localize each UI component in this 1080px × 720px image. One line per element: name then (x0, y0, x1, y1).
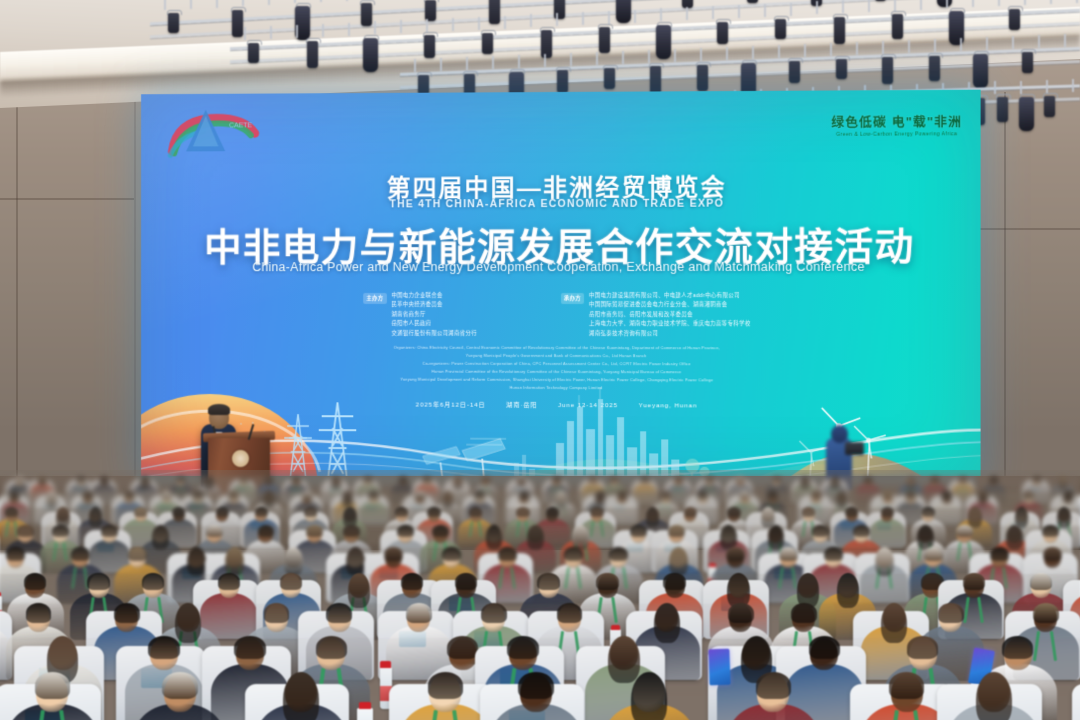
stage-light (489, 0, 500, 24)
water-bottle (357, 708, 372, 720)
truss-diagonal (908, 40, 910, 53)
truss-diagonal (712, 6, 714, 19)
audience-member-hair (889, 672, 925, 699)
truss-diagonal (960, 38, 962, 51)
org-line: 湖南省商务厅 (391, 311, 476, 320)
truss-diagonal (622, 51, 624, 64)
stage-light (1009, 9, 1020, 30)
truss-diagonal (1064, 34, 1066, 47)
audience-member-hair (428, 672, 464, 699)
truss-diagonal (322, 24, 324, 37)
truss-diagonal (738, 5, 740, 18)
truss-diagonal (700, 48, 702, 61)
conference-photo: CAETE 绿色低碳 电"载"非洲 Green & Low-Carbon Ene… (0, 0, 1080, 720)
stage-light (656, 25, 671, 59)
svg-text:CAETE: CAETE (229, 122, 252, 129)
stage-light (425, 0, 436, 21)
audience-member-hair (976, 672, 1012, 720)
truss-diagonal (686, 7, 688, 20)
audience-member-hair (162, 672, 198, 699)
org-line: 岳阳市人民政府 (391, 320, 476, 330)
org-line: 中国电力建设集团有限公司、中电建人才addr中心有限公司 (589, 292, 751, 302)
truss-diagonal (596, 52, 598, 65)
truss-diagonal (492, 56, 494, 69)
stage-light (892, 14, 903, 39)
stage-light (557, 70, 568, 93)
truss-diagonal (1038, 35, 1040, 48)
stage-light (882, 57, 893, 84)
slogan-cn: 绿色低碳 电"载"非洲 (831, 116, 962, 129)
stage-light (599, 27, 610, 53)
stage-light (650, 66, 661, 94)
truss-diagonal (804, 44, 806, 57)
organizers-block: 主办方 中国电力企业联合会民革中央经济委员会湖南省商务厅岳阳市人民政府交通银行股… (141, 292, 980, 340)
wall-seam (16, 105, 18, 505)
truss-diagonal (660, 8, 662, 21)
stage-light (168, 13, 179, 33)
truss-diagonal (544, 54, 546, 67)
truss-diagonal (570, 53, 572, 66)
org-line: 民革中央经济委员会 (391, 301, 476, 310)
truss-diagonal (400, 20, 402, 33)
audience-member-hair (283, 672, 319, 720)
truss-diagonal (1012, 36, 1014, 49)
truss-diagonal (946, 0, 948, 8)
cohost-tag: 承办方 (561, 293, 584, 304)
stage-light (997, 97, 1008, 122)
truss-diagonal (856, 42, 858, 55)
truss-diagonal (504, 16, 506, 29)
audience-member-hair (35, 672, 71, 699)
expo-title-en: THE 4TH CHINA-AFRICA ECONOMIC AND TRADE … (141, 197, 980, 211)
led-backdrop-screen: CAETE 绿色低碳 电"载"非洲 Green & Low-Carbon Ene… (141, 90, 980, 490)
stage-light (929, 56, 940, 81)
truss-diagonal (348, 23, 350, 36)
truss-diagonal (216, 0, 218, 8)
stage-light (682, 0, 693, 8)
wall-seam (1004, 92, 1006, 512)
audience (0, 470, 1080, 720)
truss-diagonal (674, 49, 676, 62)
truss-diagonal (556, 13, 558, 26)
truss-diagonal (764, 4, 766, 17)
truss-diagonal (816, 1, 818, 14)
truss-diagonal (270, 26, 272, 39)
truss-diagonal (998, 0, 1000, 6)
truss-diagonal (972, 0, 974, 7)
truss-diagonal (920, 0, 922, 10)
bottle-cap (359, 702, 372, 710)
truss-diagonal (164, 0, 166, 10)
camera-operator-head (831, 425, 848, 443)
wall-seam (976, 228, 1080, 230)
audience-member-hair (756, 672, 792, 699)
truss-diagonal (608, 11, 610, 24)
stage-light (361, 3, 372, 26)
stage-light (363, 38, 378, 72)
truss-diagonal (934, 39, 936, 52)
slogan-en: Green & Low-Carbon Energy Powering Afric… (831, 132, 962, 137)
host-tag: 主办方 (363, 292, 386, 303)
truss-diagonal (374, 21, 376, 34)
truss-diagonal (868, 0, 870, 12)
truss-diagonal (294, 0, 296, 3)
truss-diagonal (1050, 0, 1052, 4)
truss-diagonal (466, 57, 468, 70)
org-line: 中国电力企业联合会 (391, 292, 476, 301)
truss-diagonal (726, 47, 728, 60)
host-column: 主办方 中国电力企业联合会民革中央经济委员会湖南省商务厅岳阳市人民政府交通银行股… (363, 292, 477, 339)
audience-member-hair (631, 672, 667, 720)
cohost-lines: 中国电力建设集团有限公司、中电建人才addr中心有限公司中国国际贸易促进委员会电… (589, 292, 751, 340)
stage-light (697, 65, 708, 91)
stage-light (836, 59, 847, 79)
truss-diagonal (268, 0, 270, 5)
truss-diagonal (1072, 79, 1074, 92)
truss-diagonal (440, 58, 442, 71)
stage-light (248, 43, 259, 63)
cohost-column: 承办方 中国电力建设集团有限公司、中电建人才addr中心有限公司中国国际贸易促进… (561, 292, 751, 340)
truss-diagonal (478, 17, 480, 30)
truss-diagonal (346, 0, 348, 1)
audience-member-hair (518, 672, 554, 699)
truss-diagonal (790, 3, 792, 16)
wall-seam (134, 96, 136, 516)
stage-light (307, 41, 318, 68)
host-lines: 中国电力企业联合会民革中央经济委员会湖南省商务厅岳阳市人民政府交通银行股份有限公… (391, 292, 476, 339)
event-title-en: China-Africa Power and New Energy Develo… (141, 260, 980, 275)
truss-diagonal (894, 0, 896, 11)
truss-diagonal (648, 50, 650, 63)
stage-light (482, 33, 493, 54)
truss-diagonal (414, 59, 416, 72)
stage-light (973, 54, 988, 88)
org-line: 岳阳市商务局、岳阳市发展和改革委员会 (589, 311, 751, 321)
truss-diagonal (190, 0, 192, 9)
org-line: 交通银行股份有限公司湖南省分行 (391, 330, 476, 340)
truss-diagonal (518, 55, 520, 68)
stage-light (541, 30, 552, 58)
truss-diagonal (426, 19, 428, 32)
stage-light (616, 0, 631, 23)
stage-light (937, 0, 952, 7)
wall-seam (0, 198, 134, 200)
truss-diagonal (1076, 0, 1078, 3)
stage-light (1019, 97, 1034, 131)
truss-diagonal (830, 43, 832, 56)
org-line: 中国国际贸易促进委员会电力行业分会、湖南湘阴商会 (589, 301, 751, 311)
stage-light (775, 19, 786, 39)
stage-light (232, 10, 243, 37)
org-line: 湖南弘泰技术咨询有限公司 (589, 330, 751, 340)
truss-diagonal (1046, 80, 1048, 93)
truss-diagonal (1020, 81, 1022, 94)
truss-diagonal (320, 0, 322, 2)
truss-diagonal (634, 10, 636, 23)
org-line: 上海电力大学、湖南电力职业技术学院、重庆电力高等专科学校 (589, 320, 751, 330)
lectern-emblem (232, 450, 249, 467)
audience-chair (1072, 684, 1080, 720)
stage-light (1044, 96, 1055, 117)
truss-diagonal (452, 18, 454, 31)
stage-light (834, 17, 845, 44)
stage-light (789, 61, 800, 83)
truss-diagonal (994, 81, 996, 94)
truss-diagonal (882, 41, 884, 54)
china-africa-expo-logo: CAETE (163, 101, 291, 169)
stage-light (747, 0, 758, 3)
truss-diagonal (986, 37, 988, 50)
stage-light (717, 22, 728, 44)
stage-light (604, 68, 615, 89)
truss-diagonal (296, 25, 298, 38)
stage-light (949, 11, 964, 45)
truss-diagonal (1024, 0, 1026, 5)
speaker-hair (208, 404, 230, 415)
truss-diagonal (530, 14, 532, 27)
video-camera (845, 442, 864, 455)
green-slogan: 绿色低碳 电"载"非洲 Green & Low-Carbon Energy Po… (831, 116, 962, 137)
truss-diagonal (778, 45, 780, 58)
truss-diagonal (842, 0, 844, 13)
stage-light (875, 0, 886, 1)
stage-light (1022, 52, 1033, 73)
truss-diagonal (242, 0, 244, 6)
truss-diagonal (582, 12, 584, 25)
stage-light (424, 35, 435, 58)
truss-diagonal (244, 27, 246, 40)
audience-row (0, 470, 1080, 720)
truss-diagonal (752, 46, 754, 59)
